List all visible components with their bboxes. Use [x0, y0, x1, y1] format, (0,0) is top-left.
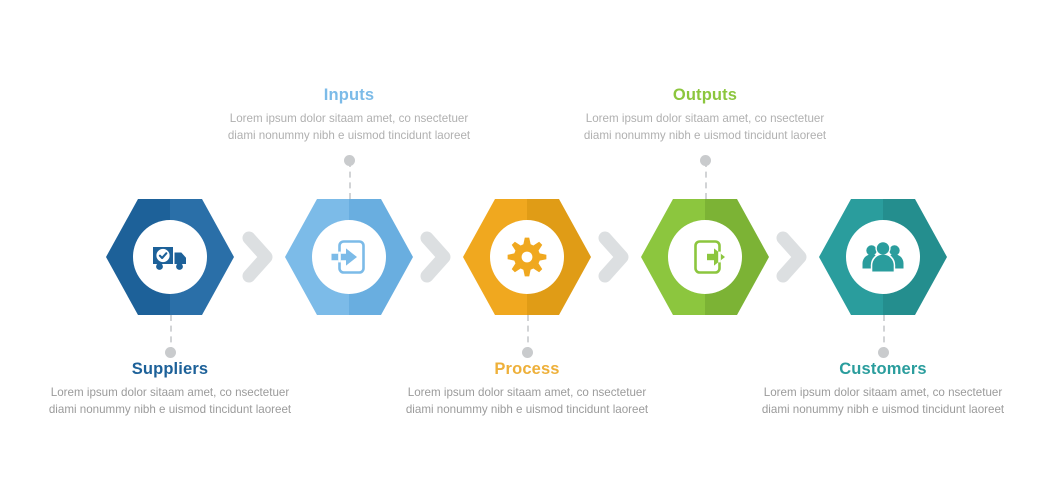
delivery-truck-check-icon: [148, 235, 192, 279]
hexagon-inputs[interactable]: [285, 199, 413, 315]
hexagon-customers[interactable]: [819, 199, 947, 315]
connector-dot-outputs: [700, 155, 711, 166]
sign-out-arrow-icon: [683, 235, 727, 279]
chevron-right-icon: [772, 231, 816, 283]
step-description-inputs: Lorem ipsum dolor sitaam amet, co nsecte…: [219, 111, 479, 144]
hexagon-outputs[interactable]: [641, 199, 769, 315]
step-title-customers: Customers: [753, 360, 1013, 378]
icon-badge-outputs: [668, 220, 742, 294]
icon-badge-inputs: [312, 220, 386, 294]
connector-dot-customers: [878, 347, 889, 358]
label-block-process: ProcessLorem ipsum dolor sitaam amet, co…: [397, 360, 657, 418]
infographic-canvas: SuppliersLorem ipsum dolor sitaam amet, …: [0, 0, 1054, 500]
icon-badge-suppliers: [133, 220, 207, 294]
step-description-outputs: Lorem ipsum dolor sitaam amet, co nsecte…: [575, 111, 835, 144]
gear-icon: [505, 235, 549, 279]
connector-stem-inputs: [349, 161, 351, 199]
hexagon-suppliers[interactable]: [106, 199, 234, 315]
connector-dot-inputs: [344, 155, 355, 166]
step-title-outputs: Outputs: [575, 86, 835, 104]
label-block-suppliers: SuppliersLorem ipsum dolor sitaam amet, …: [40, 360, 300, 418]
connector-stem-outputs: [705, 161, 707, 199]
step-description-customers: Lorem ipsum dolor sitaam amet, co nsecte…: [753, 385, 1013, 418]
step-description-suppliers: Lorem ipsum dolor sitaam amet, co nsecte…: [40, 385, 300, 418]
hexagon-process[interactable]: [463, 199, 591, 315]
step-title-suppliers: Suppliers: [40, 360, 300, 378]
step-title-inputs: Inputs: [219, 86, 479, 104]
step-description-process: Lorem ipsum dolor sitaam amet, co nsecte…: [397, 385, 657, 418]
step-title-process: Process: [397, 360, 657, 378]
icon-badge-process: [490, 220, 564, 294]
chevron-right-icon: [416, 231, 460, 283]
label-block-customers: CustomersLorem ipsum dolor sitaam amet, …: [753, 360, 1013, 418]
icon-badge-customers: [846, 220, 920, 294]
chevron-right-icon: [594, 231, 638, 283]
connector-dot-process: [522, 347, 533, 358]
label-block-inputs: InputsLorem ipsum dolor sitaam amet, co …: [219, 86, 479, 144]
connector-dot-suppliers: [165, 347, 176, 358]
group-of-people-icon: [861, 235, 905, 279]
chevron-right-icon: [238, 231, 282, 283]
label-block-outputs: OutputsLorem ipsum dolor sitaam amet, co…: [575, 86, 835, 144]
sign-in-arrow-icon: [327, 235, 371, 279]
